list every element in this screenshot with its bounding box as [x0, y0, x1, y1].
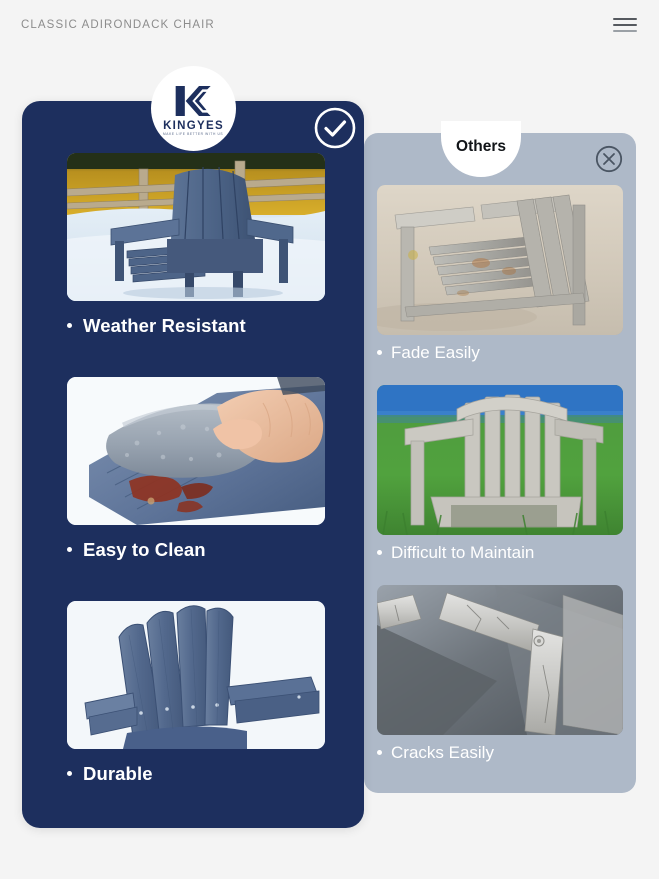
- list-item[interactable]: Easy to Clean: [67, 377, 325, 561]
- others-feature-list: Fade Easily: [364, 133, 636, 793]
- brand-label-durable: Durable: [67, 763, 325, 785]
- bullet-dot-icon: [67, 547, 72, 552]
- brand-label-easy-to-clean: Easy to Clean: [67, 539, 325, 561]
- comparison-stage: Fade Easily: [0, 0, 659, 879]
- kingyes-k-logo-icon: [174, 84, 214, 118]
- list-item[interactable]: Durable: [67, 601, 325, 785]
- others-panel: Fade Easily: [364, 133, 636, 793]
- brand-wordmark: KINGYES: [163, 120, 224, 132]
- bullet-dot-icon: [67, 323, 72, 328]
- brand-label-weather-resistant: Weather Resistant: [67, 315, 325, 337]
- brand-image-easy-to-clean: [67, 377, 325, 525]
- brand-feature-list: Weather Resistant: [22, 101, 364, 828]
- others-label-fade-easily: Fade Easily: [377, 343, 623, 363]
- bullet-dot-icon: [377, 350, 382, 355]
- bullet-dot-icon: [67, 771, 72, 776]
- others-image-difficult-to-maintain: [377, 385, 623, 535]
- others-image-cracks-easily: [377, 585, 623, 735]
- bullet-dot-icon: [377, 550, 382, 555]
- check-circle-icon[interactable]: [313, 106, 357, 150]
- others-image-fade-easily: [377, 185, 623, 335]
- bullet-dot-icon: [377, 750, 382, 755]
- brand-tagline: MAKE LIFE BETTER WITH US: [163, 132, 223, 136]
- list-item[interactable]: Weather Resistant: [67, 153, 325, 337]
- brand-image-durable: [67, 601, 325, 749]
- brand-image-weather-resistant: [67, 153, 325, 301]
- list-item[interactable]: Difficult to Maintain: [377, 385, 623, 563]
- brand-panel: Weather Resistant: [22, 101, 364, 828]
- x-circle-icon[interactable]: [595, 145, 623, 173]
- others-badge-label: Others: [456, 138, 506, 156]
- list-item[interactable]: Cracks Easily: [377, 585, 623, 763]
- brand-logo-badge: KINGYES MAKE LIFE BETTER WITH US: [151, 66, 236, 151]
- list-item[interactable]: Fade Easily: [377, 185, 623, 363]
- others-label-cracks-easily: Cracks Easily: [377, 743, 623, 763]
- others-label-difficult-to-maintain: Difficult to Maintain: [377, 543, 623, 563]
